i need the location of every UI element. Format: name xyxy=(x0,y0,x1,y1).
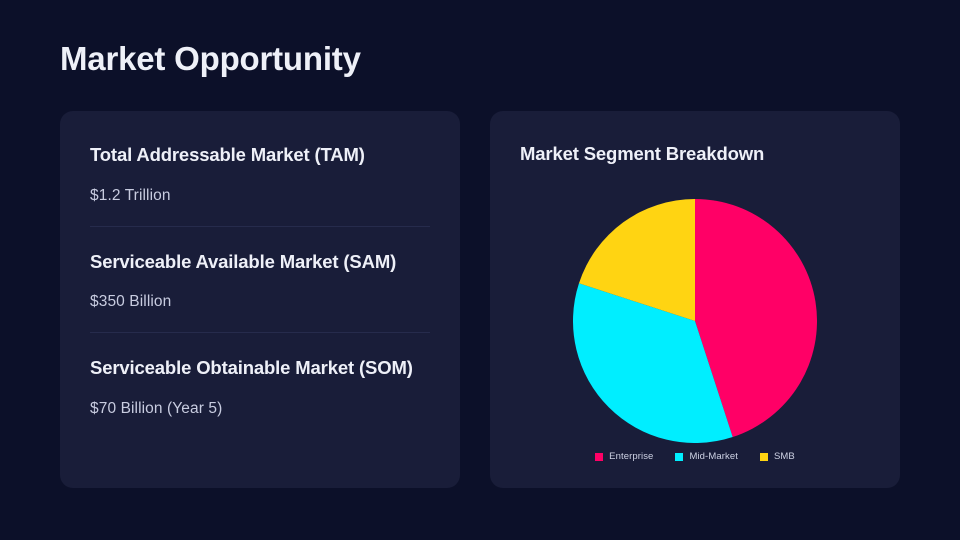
metric-value: $1.2 Trillion xyxy=(90,185,430,207)
legend-label: SMB xyxy=(774,451,795,463)
legend-swatch-icon xyxy=(675,453,683,461)
legend-item-enterprise[interactable]: Enterprise xyxy=(595,451,653,463)
metric-value: $70 Billion (Year 5) xyxy=(90,398,430,420)
legend-label: Enterprise xyxy=(609,451,653,463)
metric-label: Serviceable Available Market (SAM) xyxy=(90,248,430,277)
metric-item-som: Serviceable Obtainable Market (SOM) $70 … xyxy=(90,332,430,420)
metric-list: Total Addressable Market (TAM) $1.2 Tril… xyxy=(90,141,430,420)
pie-chart xyxy=(573,199,817,443)
pie-chart-svg xyxy=(573,199,817,443)
metric-item-sam: Serviceable Available Market (SAM) $350 … xyxy=(90,226,430,314)
chart-title: Market Segment Breakdown xyxy=(520,141,764,167)
legend-swatch-icon xyxy=(595,453,603,461)
legend-label: Mid-Market xyxy=(689,451,738,463)
legend-item-smb[interactable]: SMB xyxy=(760,451,795,463)
slide: Market Opportunity Total Addressable Mar… xyxy=(0,0,960,540)
metric-value: $350 Billion xyxy=(90,291,430,313)
market-segment-card: Market Segment Breakdown Enterprise Mid-… xyxy=(490,111,900,488)
market-size-card: Total Addressable Market (TAM) $1.2 Tril… xyxy=(60,111,460,488)
chart-legend: Enterprise Mid-Market SMB xyxy=(490,451,900,463)
metric-item-tam: Total Addressable Market (TAM) $1.2 Tril… xyxy=(90,141,430,207)
page-title: Market Opportunity xyxy=(60,38,361,80)
legend-item-mid-market[interactable]: Mid-Market xyxy=(675,451,738,463)
metric-label: Serviceable Obtainable Market (SOM) xyxy=(90,354,430,383)
metric-label: Total Addressable Market (TAM) xyxy=(90,141,430,170)
legend-swatch-icon xyxy=(760,453,768,461)
